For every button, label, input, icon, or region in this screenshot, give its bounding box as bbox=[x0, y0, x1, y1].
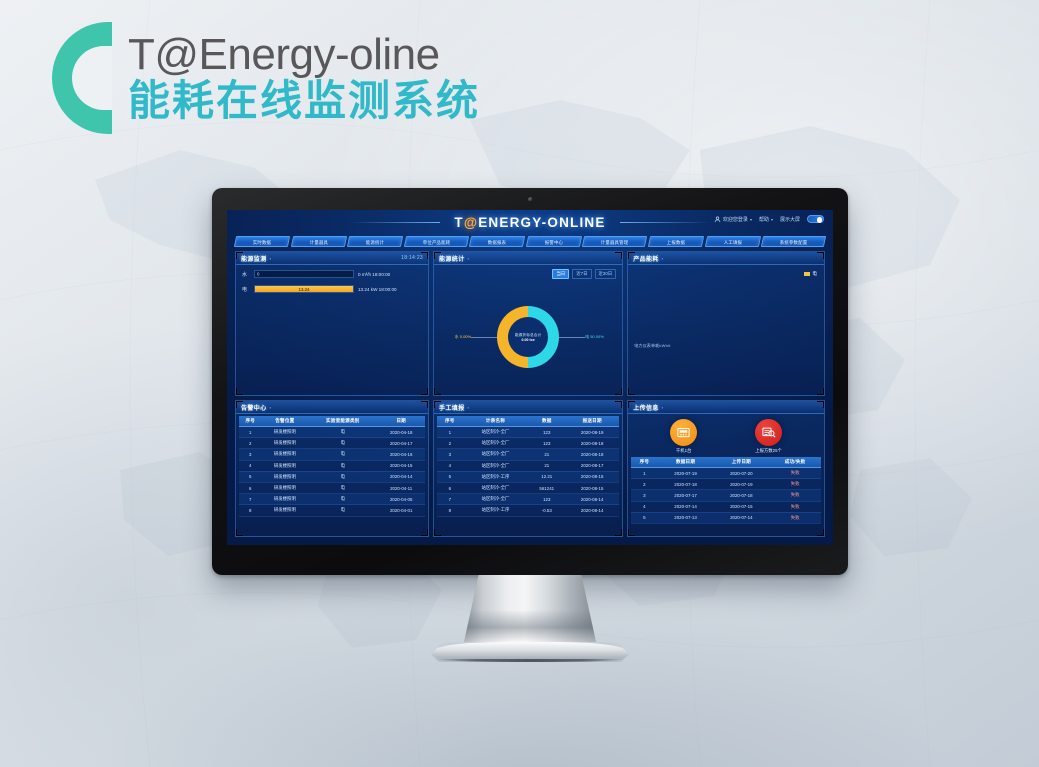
panel-header-energy-monitor: 能源监测 ▪ 18:14:23 bbox=[236, 252, 428, 265]
energy-value-electric: 13.24 bbox=[299, 287, 310, 292]
upload-stats: 干机1台 bbox=[631, 414, 821, 457]
nav-item-5[interactable]: 报警中心 bbox=[526, 236, 582, 247]
table-row[interactable]: 4站区制冷-全厂212020-08-17 bbox=[437, 460, 619, 471]
account-menu[interactable]: 欢迎您登录 ▾ bbox=[714, 216, 752, 223]
table-cell-1: 站区制冷-工序 bbox=[463, 471, 529, 482]
main-nav: 实时数据 计量器具 能源统计 单位产品能耗 数据报表 报警中心 计量器具管理 上… bbox=[232, 235, 828, 248]
chart-tab-0[interactable]: 当日 bbox=[552, 269, 569, 279]
leader-line-left bbox=[471, 337, 497, 338]
table-row[interactable]: 32020-07-172020-07-18失败 bbox=[631, 490, 821, 501]
panel-menu-icon[interactable]: ▪ bbox=[270, 256, 271, 261]
table-cell-3: 2020-08-15 bbox=[565, 471, 619, 482]
table-row[interactable]: 12020-07-192020-07-20失败 bbox=[631, 468, 821, 479]
table-cell-2: 12.21 bbox=[528, 471, 565, 482]
chart-tab-2[interactable]: 近30日 bbox=[595, 269, 617, 279]
toggle-label: 展示大屏 bbox=[780, 216, 800, 223]
panel-menu-icon-5[interactable]: ▪ bbox=[468, 405, 469, 410]
table-row[interactable]: 4研发楼照明电2020-04-15 bbox=[239, 460, 425, 471]
nav-item-1[interactable]: 计量器具 bbox=[290, 236, 346, 247]
table-cell-1: 站区制冷-全厂 bbox=[463, 438, 529, 449]
column-header-3: 报送日期 bbox=[565, 416, 619, 427]
table-cell-0: 7 bbox=[437, 494, 463, 505]
panel-grid: 能源监测 ▪ 18:14:23 水 0 0 m³/h 18:00:00 bbox=[232, 248, 828, 541]
table-row[interactable]: 3研发楼照明电2020-04-16 bbox=[239, 449, 425, 460]
table-cell-3: 2020-08-14 bbox=[565, 505, 619, 516]
table-cell-0: 7 bbox=[239, 494, 262, 505]
table-cell-3: 2020-04-16 bbox=[377, 449, 425, 460]
document-search-glyph bbox=[761, 425, 776, 440]
table-cell-3: 2020-08-14 bbox=[565, 494, 619, 505]
table-row[interactable]: 8研发楼照明电2020-04-01 bbox=[239, 505, 425, 516]
table-cell-1: 2020-07-18 bbox=[658, 479, 714, 490]
table-cell-3: 2020-08-19 bbox=[565, 427, 619, 438]
help-menu[interactable]: 帮助 ▾ bbox=[759, 216, 773, 223]
table-cell-3: 2020-04-18 bbox=[377, 427, 425, 438]
alarm-table: 序号告警位置实验室能源类别日期 1研发楼照明电2020-04-182研发楼照明电… bbox=[239, 416, 425, 517]
table-cell-3: 2020-08-15 bbox=[565, 482, 619, 493]
table-cell-2: 电 bbox=[308, 505, 377, 516]
table-cell-0: 5 bbox=[239, 471, 262, 482]
webcam-icon bbox=[528, 197, 533, 202]
person-icon bbox=[714, 216, 721, 223]
dashboard: T@ENERGY-ONLINE 欢迎您登录 ▾ 帮助 ▾ bbox=[227, 210, 833, 545]
table-cell-2: 21 bbox=[528, 460, 565, 471]
manual-entry-table-header: 序号计表名称数据报送日期 bbox=[437, 416, 619, 427]
energy-bar-electric: 13.24 bbox=[254, 285, 354, 293]
table-cell-1: 研发楼照明 bbox=[262, 427, 309, 438]
table-cell-0: 1 bbox=[631, 468, 657, 479]
product-axis-note: 电力仪表单耗kWh/t bbox=[634, 343, 670, 349]
table-row[interactable]: 6研发楼照明电2020-04-11 bbox=[239, 482, 425, 493]
panel-menu-icon-4[interactable]: ▪ bbox=[270, 405, 271, 410]
panel-menu-icon-2[interactable]: ▪ bbox=[468, 256, 469, 261]
panel-title-product-energy: 产品能耗 bbox=[633, 254, 659, 263]
table-row[interactable]: 1研发楼照明电2020-04-18 bbox=[239, 427, 425, 438]
nav-label-0: 实时数据 bbox=[252, 237, 270, 247]
panel-header-upload-info: 上传信息 ▪ bbox=[628, 401, 824, 414]
donut-center: 能源折标总合计 0.00 tce bbox=[508, 317, 548, 357]
table-row[interactable]: 7研发楼照明电2020-04-05 bbox=[239, 494, 425, 505]
table-cell-3: 2020-04-05 bbox=[377, 494, 425, 505]
table-cell-1: 站区制冷-全厂 bbox=[463, 494, 529, 505]
table-cell-3: 失败 bbox=[769, 501, 821, 512]
column-header-2: 数据 bbox=[528, 416, 565, 427]
table-row[interactable]: 5研发楼照明电2020-04-14 bbox=[239, 471, 425, 482]
table-row[interactable]: 8站区制冷-工序-0.532020-08-14 bbox=[437, 505, 619, 516]
table-cell-2: 123 bbox=[528, 438, 565, 449]
panel-alarm-center: 告警中心 ▪ 序号告警位置实验室能源类别日期 1研发楼照明电2020-04-18… bbox=[235, 400, 429, 537]
table-cell-2: 2020-07-19 bbox=[713, 479, 769, 490]
table-cell-3: 2020-04-14 bbox=[377, 471, 425, 482]
table-cell-3: 2020-08-18 bbox=[565, 449, 619, 460]
brand-title-en: T@Energy-oline bbox=[128, 32, 480, 78]
column-header-3: 日期 bbox=[377, 416, 425, 427]
panel-title-upload-info: 上传信息 bbox=[633, 403, 659, 412]
monitor-bezel: T@ENERGY-ONLINE 欢迎您登录 ▾ 帮助 ▾ bbox=[212, 188, 848, 575]
upload-table-header: 序号数据日期上传日期成功/失败 bbox=[631, 457, 821, 468]
table-row[interactable]: 5站区制冷-工序12.212020-08-15 bbox=[437, 471, 619, 482]
table-cell-2: -0.53 bbox=[528, 505, 565, 516]
column-header-2: 实验室能源类别 bbox=[308, 416, 377, 427]
table-cell-3: 失败 bbox=[769, 490, 821, 501]
table-row[interactable]: 6站区制冷-全厂5612412020-08-15 bbox=[437, 482, 619, 493]
nav-label-8: 人工填报 bbox=[723, 237, 741, 247]
table-row[interactable]: 2研发楼照明电2020-04-17 bbox=[239, 438, 425, 449]
table-cell-2: 2020-07-15 bbox=[713, 501, 769, 512]
bigscreen-toggle[interactable] bbox=[807, 215, 824, 223]
chart-tabs: 当日 近7日 近30日 bbox=[552, 269, 616, 279]
nav-item-7[interactable]: 上报数据 bbox=[648, 236, 704, 247]
panel-energy-stats: 能源统计 ▪ 当日 近7日 近30日 bbox=[433, 251, 623, 396]
panel-body-alarm-center: 序号告警位置实验室能源类别日期 1研发楼照明电2020-04-182研发楼照明电… bbox=[236, 414, 428, 536]
energy-meta-electric: 13.24 kW 18:00:00 bbox=[358, 287, 422, 292]
column-header-1: 计表名称 bbox=[463, 416, 529, 427]
meter-glyph bbox=[676, 425, 691, 440]
table-cell-0: 6 bbox=[239, 482, 262, 493]
table-cell-0: 4 bbox=[437, 460, 463, 471]
energy-row-electric: 电 13.24 13.24 kW 18:00:00 bbox=[242, 285, 422, 293]
table-cell-0: 3 bbox=[239, 449, 262, 460]
table-cell-1: 站区制冷-全厂 bbox=[463, 460, 529, 471]
meter-icon bbox=[670, 419, 697, 446]
column-header-0: 序号 bbox=[239, 416, 262, 427]
dashboard-topbar: T@ENERGY-ONLINE 欢迎您登录 ▾ 帮助 ▾ bbox=[232, 213, 828, 235]
panel-header-manual-entry: 手工填报 ▪ bbox=[434, 401, 622, 414]
panel-manual-entry: 手工填报 ▪ 序号计表名称数据报送日期 1站区制冷-全厂1232020-08-1… bbox=[433, 400, 623, 537]
brand-logo-icon bbox=[52, 22, 112, 134]
table-cell-2: 电 bbox=[308, 482, 377, 493]
table-cell-2: 电 bbox=[308, 494, 377, 505]
table-cell-1: 2020-07-13 bbox=[658, 512, 714, 523]
table-cell-2: 电 bbox=[308, 438, 377, 449]
table-cell-1: 研发楼照明 bbox=[262, 449, 309, 460]
nav-item-8[interactable]: 人工填报 bbox=[705, 236, 761, 247]
table-cell-2: 2020-07-20 bbox=[713, 468, 769, 479]
table-cell-3: 2020-08-18 bbox=[565, 438, 619, 449]
table-cell-1: 2020-07-14 bbox=[658, 501, 714, 512]
legend-label: 电 bbox=[812, 271, 817, 277]
nav-item-9[interactable]: 系统参数配置 bbox=[761, 236, 826, 247]
panel-body-upload-info: 干机1台 bbox=[628, 414, 824, 536]
table-cell-3: 失败 bbox=[769, 512, 821, 523]
energy-row-water: 水 0 0 m³/h 18:00:00 bbox=[242, 270, 422, 278]
donut-label-electric: 电 50.00% bbox=[585, 334, 604, 340]
donut-label-water: 水 0.00% bbox=[455, 334, 471, 340]
table-cell-0: 6 bbox=[437, 482, 463, 493]
app-title-suffix: ENERGY-ONLINE bbox=[478, 215, 605, 230]
table-cell-1: 研发楼照明 bbox=[262, 505, 309, 516]
table-cell-2: 电 bbox=[308, 471, 377, 482]
table-cell-1: 研发楼照明 bbox=[262, 471, 309, 482]
column-header-3: 成功/失败 bbox=[769, 457, 821, 468]
app-title-prefix: T bbox=[454, 215, 463, 230]
table-cell-2: 21 bbox=[528, 449, 565, 460]
panel-header-product-energy: 产品能耗 ▪ bbox=[628, 252, 824, 265]
panel-energy-monitor: 能源监测 ▪ 18:14:23 水 0 0 m³/h 18:00:00 bbox=[235, 251, 429, 396]
table-cell-1: 2020-07-19 bbox=[658, 468, 714, 479]
table-cell-0: 3 bbox=[631, 490, 657, 501]
table-cell-0: 3 bbox=[437, 449, 463, 460]
table-cell-0: 5 bbox=[631, 512, 657, 523]
table-row[interactable]: 1站区制冷-全厂1232020-08-19 bbox=[437, 427, 619, 438]
table-cell-0: 1 bbox=[437, 427, 463, 438]
help-label: 帮助 bbox=[759, 216, 769, 223]
leader-line-right bbox=[559, 337, 585, 338]
table-cell-1: 站区制冷-全厂 bbox=[463, 449, 529, 460]
table-cell-0: 2 bbox=[631, 479, 657, 490]
upload-table: 序号数据日期上传日期成功/失败 12020-07-192020-07-20失败2… bbox=[631, 457, 821, 524]
monitor-screen: T@ENERGY-ONLINE 欢迎您登录 ▾ 帮助 ▾ bbox=[227, 210, 833, 545]
monitor-stand-base bbox=[431, 642, 629, 662]
upload-stat-meters[interactable]: 干机1台 bbox=[670, 419, 697, 454]
table-row[interactable]: 7站区制冷-全厂1232020-08-14 bbox=[437, 494, 619, 505]
nav-label-9: 系统参数配置 bbox=[780, 237, 808, 247]
table-cell-3: 失败 bbox=[769, 479, 821, 490]
table-cell-2: 123 bbox=[528, 427, 565, 438]
panel-title-energy-monitor: 能源监测 bbox=[241, 254, 267, 263]
column-header-1: 数据日期 bbox=[658, 457, 714, 468]
table-cell-2: 电 bbox=[308, 449, 377, 460]
panel-upload-info: 上传信息 ▪ bbox=[627, 400, 825, 537]
nav-label-3: 单位产品能耗 bbox=[422, 237, 450, 247]
energy-timestamp: 18:14:23 bbox=[401, 255, 423, 261]
table-row[interactable]: 22020-07-182020-07-19失败 bbox=[631, 479, 821, 490]
table-cell-3: 失败 bbox=[769, 468, 821, 479]
nav-label-7: 上报数据 bbox=[667, 237, 685, 247]
table-cell-0: 4 bbox=[239, 460, 262, 471]
table-cell-2: 电 bbox=[308, 427, 377, 438]
flame-at-icon: @ bbox=[464, 215, 478, 230]
nav-label-6: 计量器具管理 bbox=[601, 237, 629, 247]
panel-title-energy-stats: 能源统计 bbox=[439, 254, 465, 263]
panel-title-manual-entry: 手工填报 bbox=[439, 403, 465, 412]
table-cell-2: 2020-07-14 bbox=[713, 512, 769, 523]
table-cell-0: 8 bbox=[239, 505, 262, 516]
column-header-0: 序号 bbox=[437, 416, 463, 427]
monitor: T@ENERGY-ONLINE 欢迎您登录 ▾ 帮助 ▾ bbox=[212, 188, 848, 662]
nav-label-5: 报警中心 bbox=[544, 237, 562, 247]
panel-menu-icon-6[interactable]: ▪ bbox=[662, 405, 663, 410]
upload-table-body: 12020-07-192020-07-20失败22020-07-182020-0… bbox=[631, 468, 821, 524]
energy-value-water: 0 bbox=[257, 272, 259, 277]
table-cell-1: 2020-07-17 bbox=[658, 490, 714, 501]
table-cell-1: 站区制冷-全厂 bbox=[463, 427, 529, 438]
table-row[interactable]: 2站区制冷-全厂1232020-08-18 bbox=[437, 438, 619, 449]
table-cell-0: 4 bbox=[631, 501, 657, 512]
document-search-icon bbox=[755, 419, 782, 446]
legend-swatch-icon bbox=[804, 272, 810, 276]
chevron-down-icon-2: ▾ bbox=[771, 217, 773, 222]
energy-meta-water: 0 m³/h 18:00:00 bbox=[358, 272, 422, 277]
brand-title-cn: 能耗在线监测系统 bbox=[128, 77, 480, 124]
table-cell-3: 2020-04-11 bbox=[377, 482, 425, 493]
table-cell-0: 5 bbox=[437, 471, 463, 482]
table-cell-1: 研发楼照明 bbox=[262, 482, 309, 493]
table-cell-0: 2 bbox=[437, 438, 463, 449]
panel-body-energy-stats: 当日 近7日 近30日 水 0.00% 电 50.00% bbox=[434, 265, 622, 395]
upload-stat-reports[interactable]: 上报方数25个 bbox=[755, 419, 782, 454]
table-cell-2: 2020-07-18 bbox=[713, 490, 769, 501]
table-row[interactable]: 42020-07-142020-07-15失败 bbox=[631, 501, 821, 512]
chevron-down-icon: ▾ bbox=[750, 217, 752, 222]
table-cell-0: 2 bbox=[239, 438, 262, 449]
column-header-1: 告警位置 bbox=[262, 416, 309, 427]
donut-ring: 能源折标总合计 0.00 tce bbox=[497, 306, 559, 368]
table-cell-1: 研发楼照明 bbox=[262, 460, 309, 471]
table-cell-0: 1 bbox=[239, 427, 262, 438]
table-cell-2: 561241 bbox=[528, 482, 565, 493]
manual-entry-table: 序号计表名称数据报送日期 1站区制冷-全厂1232020-08-192站区制冷-… bbox=[437, 416, 619, 517]
column-header-2: 上传日期 bbox=[713, 457, 769, 468]
panel-product-energy: 产品能耗 ▪ 电 电力仪表单耗kWh/t bbox=[627, 251, 825, 396]
energy-bar-water: 0 bbox=[254, 270, 354, 278]
nav-label-1: 计量器具 bbox=[309, 237, 327, 247]
table-cell-1: 研发楼照明 bbox=[262, 438, 309, 449]
column-header-0: 序号 bbox=[631, 457, 657, 468]
nav-label-4: 数据报表 bbox=[488, 237, 506, 247]
table-cell-0: 8 bbox=[437, 505, 463, 516]
table-cell-3: 2020-04-17 bbox=[377, 438, 425, 449]
upload-stat-label-0: 干机1台 bbox=[670, 448, 697, 454]
nav-item-6[interactable]: 计量器具管理 bbox=[582, 236, 647, 247]
table-cell-1: 站区制冷-全厂 bbox=[463, 482, 529, 493]
energy-label-electric: 电 bbox=[242, 286, 250, 293]
nav-item-0[interactable]: 实时数据 bbox=[234, 236, 290, 247]
nav-item-3[interactable]: 单位产品能耗 bbox=[403, 236, 468, 247]
table-cell-2: 电 bbox=[308, 460, 377, 471]
table-cell-1: 研发楼照明 bbox=[262, 494, 309, 505]
table-cell-3: 2020-04-01 bbox=[377, 505, 425, 516]
upload-stat-label-1: 上报方数25个 bbox=[755, 448, 782, 454]
table-row[interactable]: 52020-07-132020-07-14失败 bbox=[631, 512, 821, 523]
table-cell-3: 2020-04-15 bbox=[377, 460, 425, 471]
table-cell-1: 站区制冷-工序 bbox=[463, 505, 529, 516]
panel-body-product-energy: 电 电力仪表单耗kWh/t bbox=[628, 265, 824, 395]
table-cell-2: 123 bbox=[528, 494, 565, 505]
panel-menu-icon-3[interactable]: ▪ bbox=[662, 256, 663, 261]
alarm-table-body: 1研发楼照明电2020-04-182研发楼照明电2020-04-173研发楼照明… bbox=[239, 427, 425, 517]
donut-center-line2: 0.00 tce bbox=[522, 338, 535, 342]
chart-tab-1[interactable]: 近7日 bbox=[572, 269, 591, 279]
user-area: 欢迎您登录 ▾ 帮助 ▾ 展示大屏 bbox=[714, 215, 824, 223]
brand-header: T@Energy-oline 能耗在线监测系统 bbox=[52, 22, 480, 134]
nav-label-2: 能源统计 bbox=[365, 237, 383, 247]
manual-entry-table-body: 1站区制冷-全厂1232020-08-192站区制冷-全厂1232020-08-… bbox=[437, 427, 619, 517]
panel-body-energy-monitor: 水 0 0 m³/h 18:00:00 电 13.24 bbox=[236, 265, 428, 395]
panel-body-manual-entry: 序号计表名称数据报送日期 1站区制冷-全厂1232020-08-192站区制冷-… bbox=[434, 414, 622, 536]
nav-item-4[interactable]: 数据报表 bbox=[469, 236, 525, 247]
table-cell-3: 2020-08-17 bbox=[565, 460, 619, 471]
nav-item-2[interactable]: 能源统计 bbox=[347, 236, 403, 247]
table-row[interactable]: 3站区制冷-全厂212020-08-18 bbox=[437, 449, 619, 460]
energy-label-water: 水 bbox=[242, 271, 250, 278]
product-legend: 电 bbox=[804, 271, 817, 277]
account-label: 欢迎您登录 bbox=[723, 216, 748, 223]
monitor-stand-neck bbox=[464, 575, 596, 642]
alarm-table-header: 序号告警位置实验室能源类别日期 bbox=[239, 416, 425, 427]
donut-chart: 水 0.00% 电 50.00% 能源折标总合计 0.00 tce bbox=[434, 283, 622, 391]
panel-header-alarm-center: 告警中心 ▪ bbox=[236, 401, 428, 414]
panel-title-alarm-center: 告警中心 bbox=[241, 403, 267, 412]
panel-header-energy-stats: 能源统计 ▪ bbox=[434, 252, 622, 265]
